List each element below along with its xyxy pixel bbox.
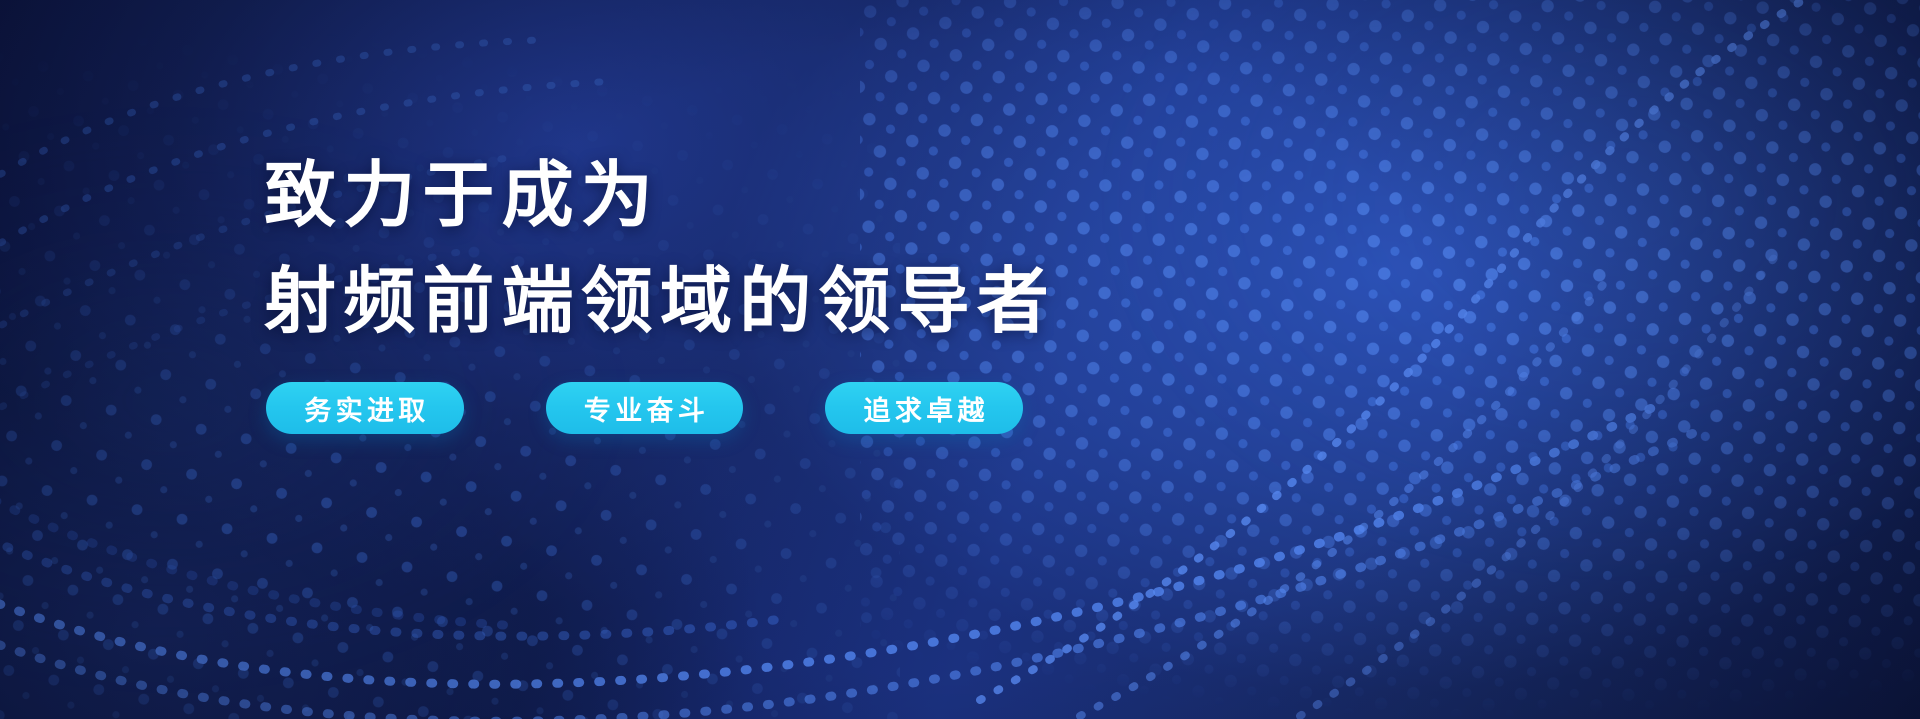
slogan-pill-3[interactable]: 追求卓越	[825, 382, 1023, 434]
headline-line-1: 致力于成为	[264, 160, 1358, 232]
slogan-pill-2[interactable]: 专业奋斗	[546, 382, 744, 434]
hero-content: 致力于成为 射频前端领域的领导者 务实进取 专业奋斗 追求卓越	[258, 160, 1358, 434]
hero-banner: 致力于成为 射频前端领域的领导者 务实进取 专业奋斗 追求卓越	[0, 0, 1920, 719]
slogan-pill-group: 务实进取 专业奋斗 追求卓越	[266, 382, 1358, 434]
headline-line-2: 射频前端领域的领导者	[264, 266, 1358, 338]
slogan-pill-1[interactable]: 务实进取	[266, 382, 464, 434]
